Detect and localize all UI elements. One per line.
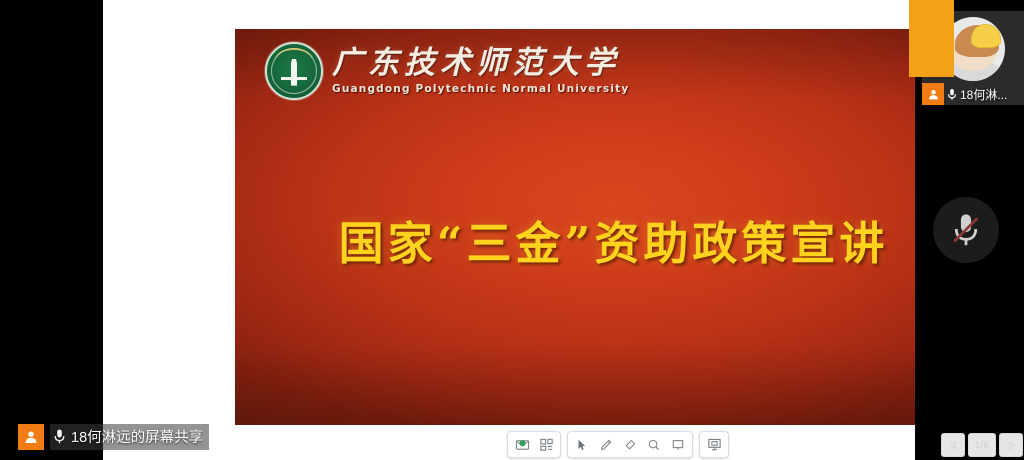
sharer-label: 18何淋远的屏幕共享: [50, 424, 209, 450]
participant-avatar-badge: [922, 83, 944, 105]
whiteboard-button[interactable]: [666, 434, 690, 455]
zoom-tool-button[interactable]: [642, 434, 666, 455]
annotation-toolbar: [507, 432, 729, 457]
share-tool-group: [507, 431, 561, 458]
layout-button[interactable]: [534, 434, 558, 455]
sharer-avatar-badge: [18, 424, 44, 450]
microphone-icon: [52, 428, 67, 445]
participant-name-bar: 18何淋...: [922, 83, 1024, 105]
select-tool-button[interactable]: [570, 434, 594, 455]
presentation-tool-group: [699, 431, 729, 458]
zoom-meeting-screen-share-window: 广东技术师范大学 Guangdong Polytechnic Normal Un…: [0, 0, 1024, 460]
triangle-left-icon: [948, 440, 959, 451]
page-navigation: 1/6: [941, 433, 1023, 457]
next-page-button[interactable]: [999, 433, 1023, 457]
screen-share-status: 18何淋远的屏幕共享: [18, 424, 209, 450]
share-screen-button[interactable]: [510, 434, 534, 455]
previous-page-button[interactable]: [941, 433, 965, 457]
shared-document-area[interactable]: 广东技术师范大学 Guangdong Polytechnic Normal Un…: [103, 0, 915, 460]
page-indicator: 1/6: [968, 433, 996, 457]
presentation-button[interactable]: [702, 434, 726, 455]
avatar-hat: [971, 24, 1001, 48]
university-name-en: Guangdong Polytechnic Normal University: [332, 84, 629, 95]
eraser-tool-button[interactable]: [618, 434, 642, 455]
university-name-block: 广东技术师范大学 Guangdong Polytechnic Normal Un…: [332, 48, 629, 95]
person-icon: [927, 88, 940, 101]
microphone-icon: [946, 87, 958, 102]
presentation-slide[interactable]: 广东技术师范大学 Guangdong Polytechnic Normal Un…: [235, 29, 992, 425]
emblem-tower-base: [281, 77, 307, 80]
orange-overlay-bar: [909, 0, 954, 77]
participant-name: 18何淋...: [960, 86, 1007, 103]
pen-tool-button[interactable]: [594, 434, 618, 455]
triangle-right-icon: [1006, 440, 1017, 451]
sharer-name: 18何淋远的屏幕共享: [71, 426, 203, 447]
university-emblem-icon: [265, 42, 323, 100]
person-icon: [23, 429, 39, 445]
university-brand: 广东技术师范大学 Guangdong Polytechnic Normal Un…: [265, 42, 629, 100]
annotation-tool-group: [567, 431, 693, 458]
university-name-cn: 广东技术师范大学: [332, 48, 629, 79]
slide-title: 国家“三金”资助政策宣讲: [235, 207, 992, 272]
